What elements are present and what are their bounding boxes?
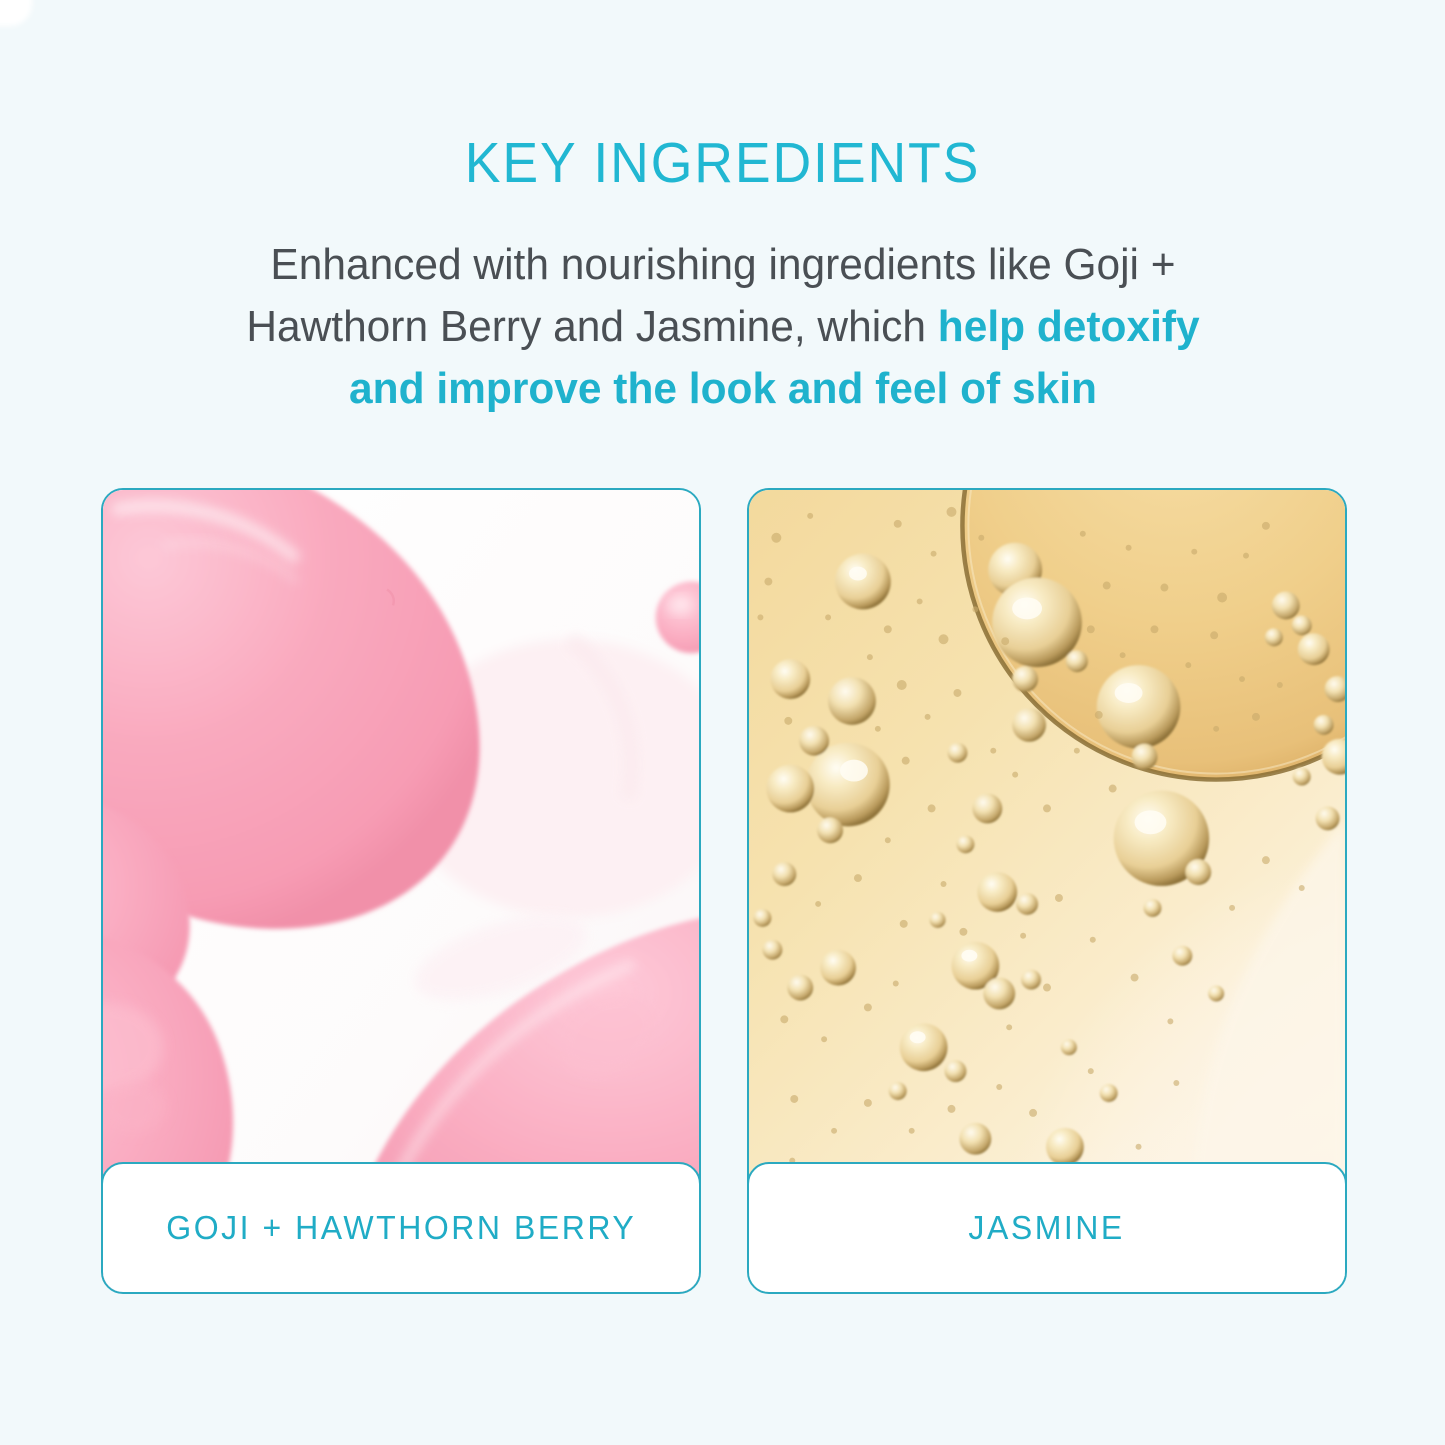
ingredient-card-jasmine[interactable]: JASMINE xyxy=(747,488,1347,1294)
header: KEY INGREDIENTS Enhanced with nourishing… xyxy=(0,132,1445,420)
ingredient-label: GOJI + HAWTHORN BERRY xyxy=(166,1209,636,1247)
subhead: Enhanced with nourishing ingredients lik… xyxy=(206,234,1239,420)
page-title: KEY INGREDIENTS xyxy=(43,132,1401,194)
ingredient-card-goji-hawthorn-berry[interactable]: GOJI + HAWTHORN BERRY xyxy=(101,488,701,1294)
ingredient-cards: GOJI + HAWTHORN BERRY xyxy=(0,488,1445,1298)
card-label-plate: JASMINE xyxy=(747,1162,1347,1294)
marketing-panel: KEY INGREDIENTS Enhanced with nourishing… xyxy=(0,0,1445,1445)
corner-highlight xyxy=(0,0,32,26)
ingredient-label: JASMINE xyxy=(969,1209,1125,1247)
card-label-plate: GOJI + HAWTHORN BERRY xyxy=(101,1162,701,1294)
